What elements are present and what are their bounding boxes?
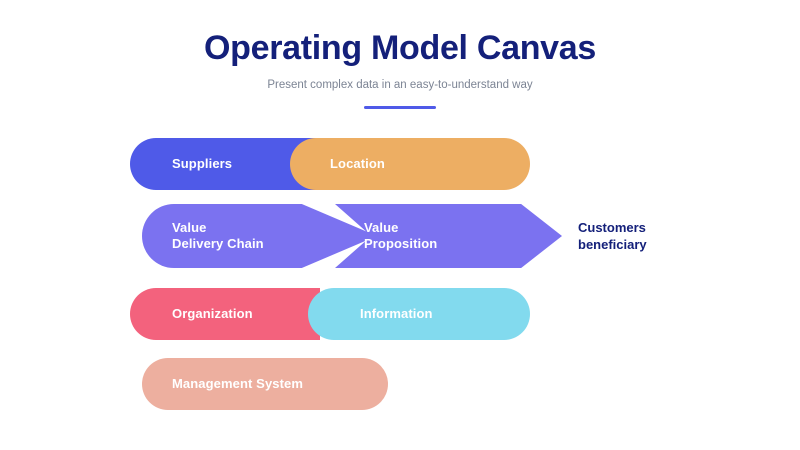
shape-label-location: Location — [330, 156, 385, 172]
label-customers-beneficiary: Customers beneficiary — [578, 219, 647, 253]
shape-label-organization: Organization — [172, 306, 253, 322]
diagram-row-value: Value Delivery Chain Value Proposition — [142, 204, 562, 268]
diagram-row-supply: Suppliers Location — [130, 138, 530, 190]
diagram-row-management: Management System — [142, 358, 388, 410]
shape-label-management-system: Management System — [172, 376, 303, 392]
slide-canvas: Operating Model Canvas Present complex d… — [0, 0, 800, 450]
shape-label-information: Information — [360, 306, 433, 322]
shape-location[interactable] — [290, 138, 530, 190]
operating-model-diagram: Suppliers Location Value Delivery Chain … — [0, 0, 800, 450]
shape-label-suppliers: Suppliers — [172, 156, 232, 172]
shape-label-value-proposition: Value Proposition — [364, 220, 437, 252]
diagram-row-organization: Organization Information — [130, 288, 530, 340]
shape-label-value-delivery-chain: Value Delivery Chain — [172, 220, 264, 252]
